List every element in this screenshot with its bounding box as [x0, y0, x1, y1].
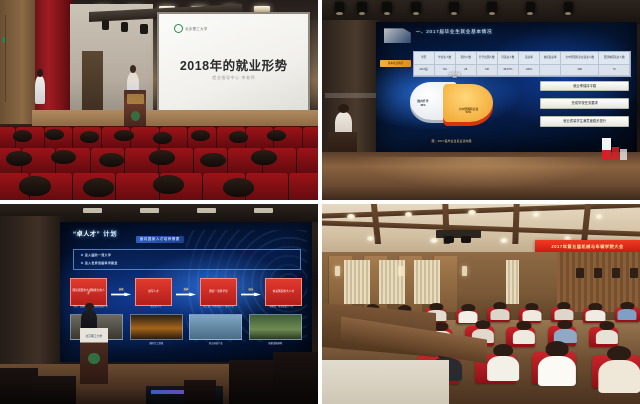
spotlight	[102, 20, 110, 30]
podium-emblem-icon	[131, 111, 140, 121]
podium-emblem-icon	[88, 353, 99, 364]
thumbnail-caption: 国防军工领域	[130, 341, 183, 345]
audience-head	[83, 178, 115, 197]
standing-attendant	[35, 76, 45, 104]
watermark-logo-icon	[602, 132, 631, 160]
ceiling-light	[254, 208, 273, 213]
bullet-item: 进入国防一流大学	[81, 253, 111, 257]
audience-person	[554, 302, 573, 320]
downlight	[532, 212, 540, 217]
arrow-right-icon	[176, 292, 196, 296]
logo-ring-icon	[174, 24, 183, 33]
slide-bullet-box: 进入国防一流大学 进入世界顶级科学殿堂	[73, 249, 301, 271]
slide-header: 一、2017届毕业生就业基本情况	[384, 27, 629, 48]
flow-arrow: 培养	[172, 287, 201, 296]
audience-person	[522, 303, 541, 321]
downlight	[430, 238, 438, 243]
panel-top-right: 一、2017届毕业生就业基本情况 基本就业情况 学历 毕业生人数 签约人数 升学…	[322, 0, 640, 200]
table-header-cell: 大中型国有企业就业人数	[561, 52, 599, 66]
audience-silhouette	[184, 380, 216, 404]
audience-silhouette	[273, 352, 318, 404]
table-cell: 98.87%	[498, 65, 519, 76]
slide-title: “卓人才” 计划	[73, 229, 118, 238]
table-cell: 740	[477, 65, 498, 76]
ceiling-light	[197, 208, 216, 213]
downlight	[500, 238, 508, 243]
thumbnail-caption: 前沿科技产业	[189, 341, 242, 345]
slide-brand-logo-icon	[384, 28, 411, 43]
wall-square	[612, 268, 620, 279]
speaker-head	[85, 303, 94, 311]
lighting-rig	[322, 2, 640, 20]
slide-subtitle: 就业指导中心 李老师	[159, 75, 308, 81]
table-header-cell: 待就业人数	[498, 52, 519, 66]
arrow-right-icon	[111, 292, 131, 296]
table-cell: 2017届	[414, 65, 435, 76]
panel-top-left: 北京理工大学 2018年的就业形势 就业指导中心 李老师	[0, 0, 318, 200]
speaker-head	[130, 65, 136, 73]
pie-caption: 图：2017届毕业生就业流向图	[406, 139, 497, 143]
bullet-box: 就业质量学生满意度稳步提升	[540, 116, 629, 127]
attendant-head	[37, 69, 43, 77]
audience-head	[200, 153, 225, 168]
table-header-cell: 协议就业率	[540, 52, 561, 66]
thumbnail-caption: 国家战略基地	[249, 341, 302, 345]
pie-label-abroad: 出国出境 4%	[438, 73, 472, 80]
wall-square	[630, 268, 638, 279]
table-cell	[540, 65, 561, 76]
audience-person	[618, 302, 637, 320]
flow-diagram: 国家需要重大战略能力的人才 选拔 领军人才 培养 国家一流科学家 成长 未来国家…	[70, 275, 301, 309]
audience-head	[149, 150, 174, 165]
audience-head	[19, 176, 51, 195]
projection-screen: 北京理工大学 2018年的就业形势 就业指导中心 李老师	[159, 14, 308, 116]
audience-silhouette	[229, 360, 274, 404]
audience-head	[114, 130, 133, 141]
podium: 北京理工大学	[80, 328, 109, 384]
flow-box: 国家需要重大战略能力的人才	[70, 278, 106, 306]
flow-arrow: 选拔	[107, 287, 136, 296]
podium-nameplate	[127, 94, 144, 104]
thumbnail-image	[189, 314, 242, 340]
red-stage-curtain	[35, 0, 73, 128]
thumbnail-image	[249, 314, 302, 340]
ceiling-beam	[512, 204, 520, 244]
slide-title-plan: 计划	[103, 229, 117, 238]
front-floor	[322, 360, 449, 404]
flow-arrow: 成长	[237, 287, 266, 296]
bullet-box: 就业率保持平稳	[540, 81, 629, 92]
wall-square	[576, 268, 584, 279]
audience-person	[491, 302, 510, 320]
flow-box: 未来国家重大人才	[265, 278, 301, 306]
slide-bullet-boxes: 就业率保持平稳 完成学校任务要求 就业质量学生满意度稳步提升	[540, 81, 629, 134]
audience-person	[487, 344, 519, 380]
stage-floor	[322, 152, 640, 200]
table-cell: 79	[599, 65, 630, 76]
left-wall	[0, 216, 64, 372]
flow-box: 领军人才	[135, 278, 171, 306]
table-header-cell: 就业率	[519, 52, 540, 66]
exit-sign	[2, 37, 6, 43]
arrow-right-icon	[241, 292, 261, 296]
audience-person	[586, 303, 605, 321]
slide-title-quote: “卓人才”	[73, 229, 100, 238]
audience-head	[229, 131, 248, 143]
table-header-cell: 毕业生人数	[435, 52, 456, 66]
audience-head	[80, 131, 99, 143]
audience-head	[251, 150, 276, 165]
audience-person	[554, 320, 576, 342]
flow-arrow-label: 选拔	[119, 287, 124, 291]
ceiling-light	[83, 208, 102, 213]
flow-arrow-label: 成长	[249, 287, 254, 291]
flow-caption: 院士级、学术带头人、骨干人才	[199, 306, 239, 309]
flow-caption: 国家级、省部级重大人才	[261, 306, 301, 309]
table-header-cell: 西部地区就业人数	[599, 52, 630, 66]
flow-arrow-label: 培养	[184, 287, 189, 291]
table-cell: 100%	[519, 65, 540, 76]
table-cell: 398	[561, 65, 599, 76]
host-head	[338, 104, 349, 114]
audience-head	[13, 130, 32, 142]
audience-head	[153, 132, 172, 144]
audience-person	[595, 321, 617, 343]
wall-sconce	[462, 266, 467, 276]
bullet-item: 进入世界顶级科学殿堂	[81, 261, 118, 265]
wall-sconce	[335, 266, 340, 276]
bullet-dot-icon	[80, 261, 83, 264]
university-logo: 北京理工大学	[174, 24, 208, 33]
audience-head	[191, 130, 210, 141]
panel-bottom-left: “卓人才” 计划 面向国家人才培养需要 进入国防一流大学 进入世界顶级科学殿堂 …	[0, 204, 318, 404]
slide-subtitle-bar: 面向国家人才培养需要	[136, 236, 184, 243]
audience-head	[153, 175, 185, 194]
spotlight	[121, 22, 129, 32]
thumbnail-image	[130, 314, 183, 340]
audience-head	[223, 178, 255, 197]
banner-text: 2017年第五届机械与车辆学院大会	[551, 244, 623, 250]
spotlight	[140, 24, 148, 34]
pie-label-domestic: 国内升学 48%	[408, 100, 438, 107]
table-header-cell: 签约人数	[456, 52, 477, 66]
audience-person	[538, 341, 576, 384]
slide-tag-label: 基本就业情况	[380, 60, 411, 67]
pie-chart: 国内升学 48% 大中型国有企业 52% 出国出境 4% 图：2017届毕业生就…	[402, 79, 501, 141]
flow-caption: 领军型人才	[136, 306, 176, 309]
audience-person	[599, 346, 640, 391]
audience-silhouette	[32, 376, 77, 404]
photo-collage: 北京理工大学 2018年的就业形势 就业指导中心 李老师	[0, 0, 640, 404]
thumbnail: 国防军工领域	[130, 314, 183, 345]
wall-square	[594, 268, 602, 279]
table-header-cell: 升学出国人数	[477, 52, 498, 66]
bullet-dot-icon	[80, 254, 83, 257]
projector-rig	[436, 230, 481, 238]
pie-label-enterprise: 大中型国有企业 52%	[452, 108, 486, 115]
flow-box: 国家一流科学家	[200, 278, 236, 306]
slide-title: 2018年的就业形势	[159, 55, 308, 74]
ceiling-light	[140, 208, 159, 213]
panel-bottom-right: 2017年第五届机械与车辆学院大会	[322, 204, 640, 404]
slide-header-text: 一、2017届毕业生就业基本情况	[416, 29, 493, 35]
audience-head	[6, 151, 31, 166]
ceiling-light	[254, 6, 270, 12]
table-header-cell: 学历	[414, 52, 435, 66]
podium-nameplate: 北京理工大学	[82, 331, 106, 340]
pie-slice-enterprise	[443, 84, 493, 122]
audience-head	[99, 153, 124, 168]
thumbnail: 前沿科技产业	[189, 314, 242, 345]
logo-text: 北京理工大学	[185, 26, 208, 31]
bullet-box: 完成学校任务要求	[540, 98, 629, 109]
thumbnail: 国家战略基地	[249, 314, 302, 345]
wall-sconce	[398, 266, 403, 276]
led-display-screen: 一、2017届毕业生就业基本情况 基本就业情况 学历 毕业生人数 签约人数 升学…	[376, 22, 637, 152]
audience-head	[267, 130, 286, 141]
audience-seating	[0, 126, 318, 200]
audience-person	[513, 321, 535, 343]
audience-head	[45, 129, 64, 140]
table-header-row: 学历 毕业生人数 签约人数 升学出国人数 待就业人数 就业率 协议就业率 大中型…	[414, 52, 630, 66]
